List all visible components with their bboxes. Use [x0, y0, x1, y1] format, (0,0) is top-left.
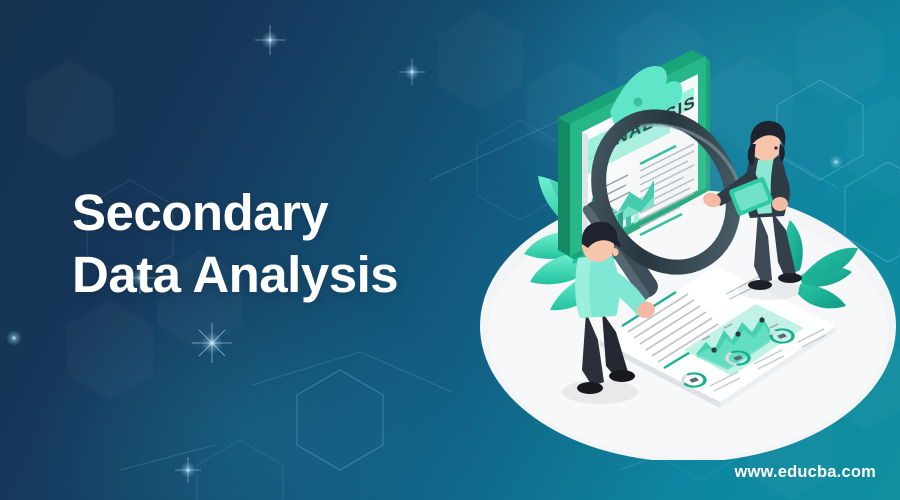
website-url[interactable]: www.educba.com — [734, 463, 876, 482]
page-title: Secondary Data Analysis — [72, 182, 492, 305]
illustration-data-analysis: ANALYSIS — [470, 40, 900, 460]
title-line-2: Data Analysis — [72, 244, 492, 306]
banner-canvas: Secondary Data Analysis — [0, 0, 900, 500]
title-line-1: Secondary — [72, 184, 328, 241]
